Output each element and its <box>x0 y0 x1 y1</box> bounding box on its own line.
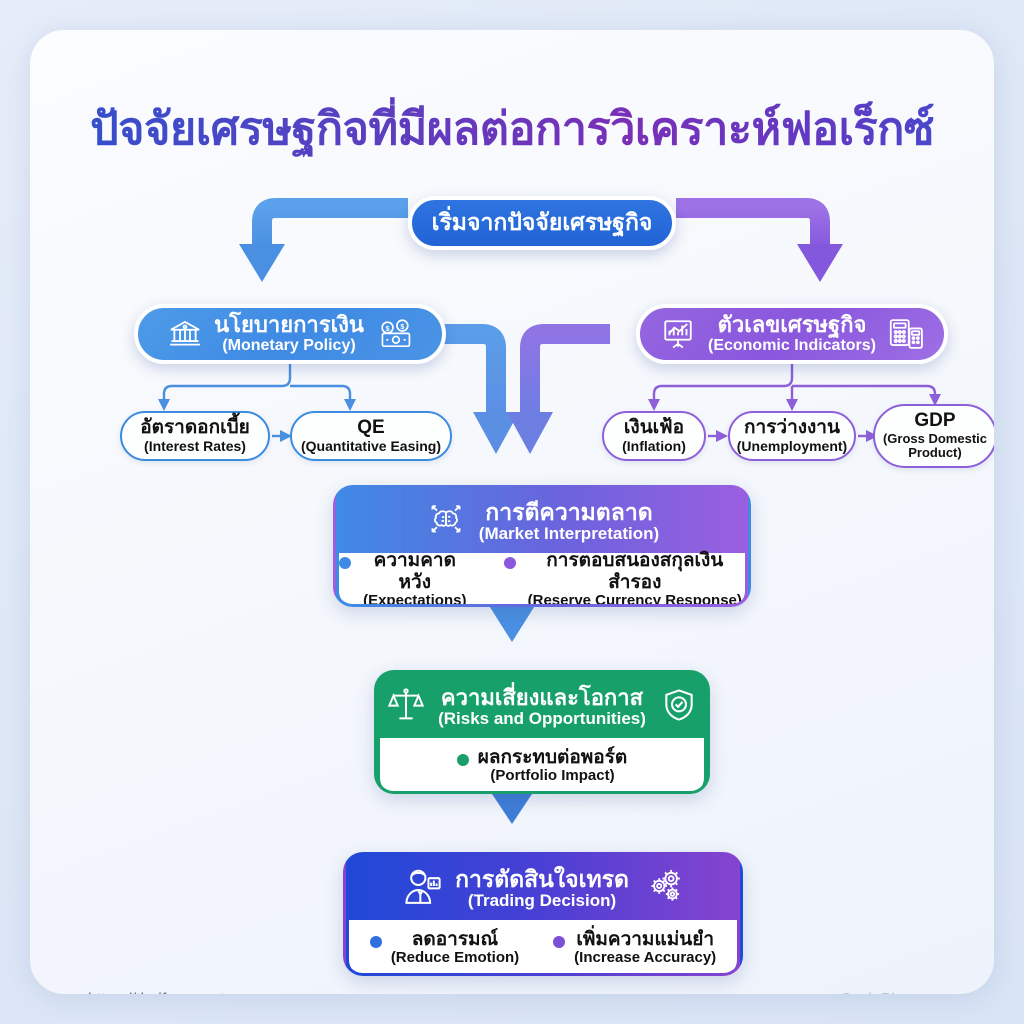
node-inflation[interactable]: เงินเฟ้อ (Inflation) <box>602 411 706 461</box>
arrowhead-interest-rates <box>158 399 170 411</box>
bullet-dot <box>339 557 351 569</box>
brain-icon <box>425 499 467 546</box>
section-risks-header: ความเสี่ยงและโอกาส (Risks and Opportunit… <box>380 676 704 738</box>
svg-text:$: $ <box>385 326 389 333</box>
section-risks-body: ผลกระทบต่อพอร์ต (Portfolio Impact) <box>380 738 704 794</box>
bracket-monetary-children <box>164 364 350 401</box>
chart-presentation-icon <box>660 317 696 351</box>
node-qe[interactable]: QE (Quantitative Easing) <box>290 411 452 461</box>
arrow-interest-to-qe <box>272 430 292 442</box>
arrow-start-to-monetary <box>239 208 408 282</box>
node-unemployment-label: การว่างงาน (Unemployment) <box>737 418 847 454</box>
list-item: ลดอารมณ์ (Reduce Emotion) <box>370 929 519 967</box>
node-gdp-label: GDP (Gross Domestic Product) <box>875 411 994 460</box>
node-start-label: เริ่มจากปัจจัยเศรษฐกิจ <box>432 210 653 236</box>
shield-check-icon <box>660 686 698 729</box>
svg-text:$: $ <box>400 324 404 331</box>
node-economic-indicators[interactable]: ตัวเลขเศรษฐกิจ (Economic Indicators) <box>636 304 948 364</box>
bullet-dot <box>457 754 469 766</box>
node-unemployment[interactable]: การว่างงาน (Unemployment) <box>728 411 856 461</box>
arrowhead-qe <box>344 399 356 411</box>
section-market-body: ความคาดหวัง (Expectations) การตอบสนองสกุ… <box>339 553 745 607</box>
scales-icon <box>386 685 426 730</box>
section-market-interpretation[interactable]: การตีความตลาด (Market Interpretation) คว… <box>333 485 751 607</box>
bullet-dot <box>370 936 382 948</box>
node-start[interactable]: เริ่มจากปัจจัยเศรษฐกิจ <box>408 196 676 250</box>
section-market-title: การตีความตลาด (Market Interpretation) <box>479 500 659 544</box>
bracket-economic-children <box>654 364 935 401</box>
section-trading-header: การตัดสินใจเทรด (Trading Decision) <box>349 858 737 920</box>
arrowhead-inflation <box>648 399 660 411</box>
infographic-card: ปัจจัยเศรษฐกิจที่มีผลต่อการวิเคราะห์ฟอเร… <box>30 30 994 994</box>
section-trading-body: ลดอารมณ์ (Reduce Emotion) เพิ่มความแม่นย… <box>349 920 737 976</box>
section-risks-title: ความเสี่ยงและโอกาส (Risks and Opportunit… <box>438 686 646 729</box>
arrow-economic-to-market <box>507 334 610 454</box>
node-inflation-label: เงินเฟ้อ (Inflation) <box>622 418 686 454</box>
calculator-icon <box>888 317 924 351</box>
node-economic-label: ตัวเลขเศรษฐกิจ (Economic Indicators) <box>708 313 876 356</box>
arrow-inflation-to-unemployment <box>708 430 728 442</box>
list-item: เพิ่มความแม่นยำ (Increase Accuracy) <box>553 929 716 967</box>
bank-icon <box>168 317 202 351</box>
node-gdp[interactable]: GDP (Gross Domestic Product) <box>873 404 994 468</box>
arrowhead-unemployment <box>786 399 798 411</box>
money-icon: $ $ <box>376 318 412 350</box>
list-item: การตอบสนองสกุลเงินสำรอง (Reserve Currenc… <box>504 550 745 607</box>
list-item: ความคาดหวัง (Expectations) <box>339 550 470 607</box>
node-interest-rates-label: อัตราดอกเบี้ย (Interest Rates) <box>140 418 250 454</box>
trader-person-icon <box>399 866 443 913</box>
node-monetary-policy[interactable]: นโยบายการเงิน (Monetary Policy) $ $ <box>134 304 446 364</box>
node-monetary-label: นโยบายการเงิน (Monetary Policy) <box>214 313 364 356</box>
section-market-header: การตีความตลาด (Market Interpretation) <box>339 491 745 553</box>
footer-brand: ScaleBlogger <box>841 991 936 994</box>
section-risks-opportunities[interactable]: ความเสี่ยงและโอกาส (Risks and Opportunit… <box>374 670 710 794</box>
section-trading-decision[interactable]: การตัดสินใจเทรด (Trading Decision) <box>343 852 743 976</box>
gears-icon <box>643 866 687 913</box>
bullet-dot <box>553 936 565 948</box>
node-interest-rates[interactable]: อัตราดอกเบี้ย (Interest Rates) <box>120 411 270 461</box>
arrow-start-to-economic <box>676 208 843 282</box>
section-trading-title: การตัดสินใจเทรด (Trading Decision) <box>455 867 629 911</box>
node-qe-label: QE (Quantitative Easing) <box>301 418 441 454</box>
infographic-stage: ปัจจัยเศรษฐกิจที่มีผลต่อการวิเคราะห์ฟอเร… <box>0 0 1024 1024</box>
page-title: ปัจจัยเศรษฐกิจที่มีผลต่อการวิเคราะห์ฟอเร… <box>30 92 994 164</box>
bullet-dot <box>504 557 516 569</box>
list-item: ผลกระทบต่อพอร์ต (Portfolio Impact) <box>457 747 628 785</box>
footer-url[interactable]: https://thaiforex.net <box>88 991 224 994</box>
